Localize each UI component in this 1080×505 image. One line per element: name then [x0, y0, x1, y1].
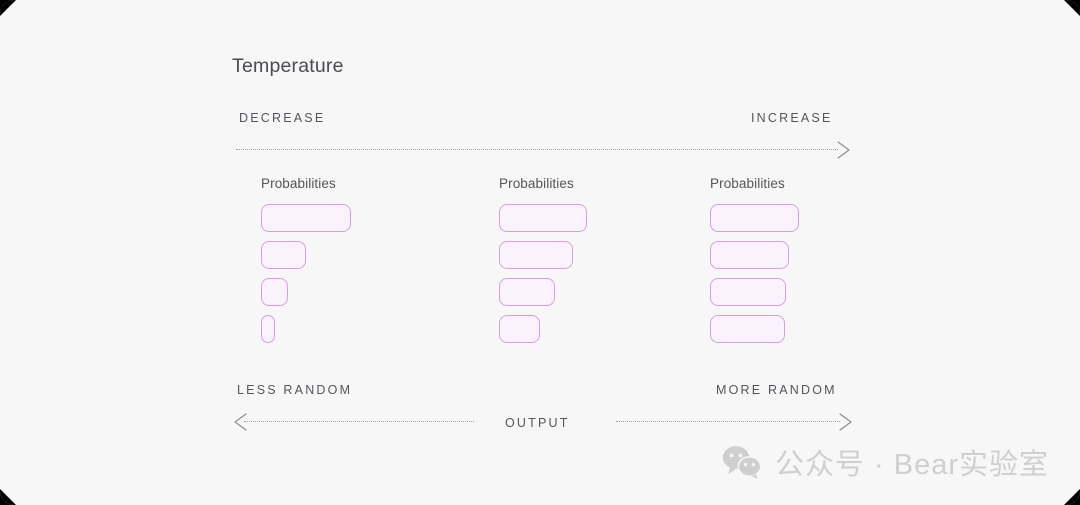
probability-group-3: Probabilities [710, 176, 799, 343]
probability-group-1-title: Probabilities [261, 176, 351, 192]
chevron-right-icon [838, 412, 854, 432]
axis-label-increase: INCREASE [751, 111, 833, 125]
top-axis-arrow-right-icon [236, 140, 852, 160]
probability-group-1: Probabilities [261, 176, 351, 343]
probability-group-3-bars [710, 204, 799, 343]
bottom-left-dotted-line [244, 421, 474, 422]
corner-notch-bottom-right [1064, 489, 1080, 505]
probability-bar [261, 315, 275, 343]
watermark: 公众号 · Bear实验室 [722, 441, 1049, 483]
probability-bar [710, 278, 786, 306]
corner-notch-top-left [0, 0, 16, 16]
probability-bar [261, 204, 351, 232]
probability-bar [499, 315, 540, 343]
probability-bar [499, 241, 573, 269]
probability-group-1-bars [261, 204, 351, 343]
bottom-right-dotted-line [616, 421, 840, 422]
probability-group-2-title: Probabilities [499, 176, 587, 192]
bottom-axis-arrow-right-icon [616, 412, 854, 432]
diagram-card: Temperature DECREASE INCREASE Probabilit… [0, 0, 1080, 505]
top-axis-dotted-line [236, 149, 838, 150]
probability-bar [261, 278, 288, 306]
probability-bar [710, 315, 785, 343]
page-title: Temperature [232, 55, 344, 78]
chevron-right-icon [836, 140, 852, 160]
probability-bar [499, 278, 555, 306]
probability-bar [261, 241, 306, 269]
probability-group-2-bars [499, 204, 587, 343]
bottom-axis-arrow-left-icon [232, 412, 474, 432]
corner-notch-bottom-left [0, 489, 16, 505]
wechat-icon [722, 445, 762, 479]
probability-bar [710, 204, 799, 232]
axis-label-more-random: MORE RANDOM [716, 383, 837, 397]
probability-group-3-title: Probabilities [710, 176, 799, 192]
axis-label-less-random: LESS RANDOM [237, 383, 352, 397]
axis-label-output: OUTPUT [505, 416, 570, 430]
chevron-left-icon [232, 412, 248, 432]
axis-label-decrease: DECREASE [239, 111, 325, 125]
probability-group-2: Probabilities [499, 176, 587, 343]
watermark-text: 公众号 · Bear实验室 [775, 441, 1049, 483]
probability-bar [710, 241, 789, 269]
probability-bar [499, 204, 587, 232]
corner-notch-top-right [1064, 0, 1080, 16]
